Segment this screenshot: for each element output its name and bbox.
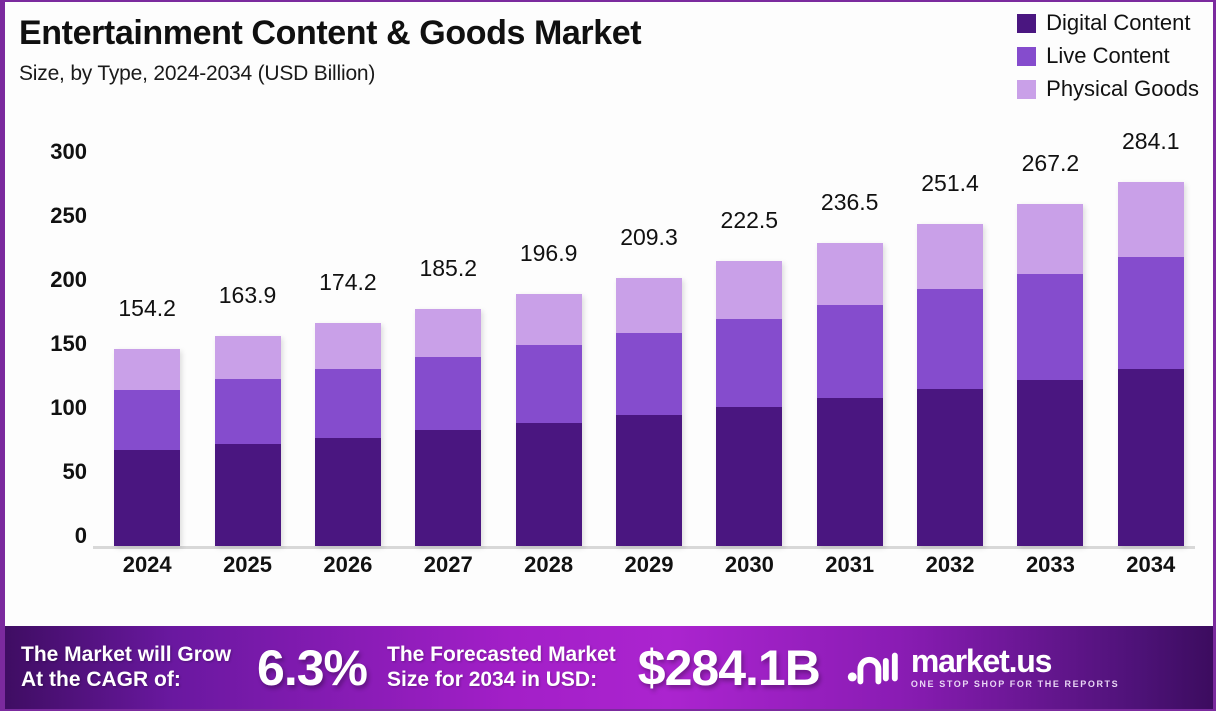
bar-segment[interactable] [1118,182,1184,256]
forecast-value: $284.1B [638,643,820,693]
stacked-bar[interactable] [1118,182,1184,546]
cagr-caption-line2: At the CAGR of: [21,668,231,693]
logo-tagline: ONE STOP SHOP FOR THE REPORTS [911,679,1119,689]
bar-column[interactable]: 236.5 [800,152,900,546]
x-axis-line [93,546,1195,549]
bar-segment[interactable] [716,407,782,546]
bar-value-label: 284.1 [1122,128,1180,155]
forecast-caption-line2: Size for 2034 in USD: [387,668,616,693]
bar-segment[interactable] [1017,380,1083,546]
bar-segment[interactable] [716,261,782,319]
x-axis-tick: 2026 [298,552,398,578]
header: Entertainment Content & Goods Market Siz… [19,14,641,86]
chart-plot-area: 300250200150100500 154.2163.9174.2185.21… [5,152,1213,607]
market-us-logo[interactable]: market.us ONE STOP SHOP FOR THE REPORTS [846,646,1119,689]
bar-value-label: 163.9 [219,282,277,309]
bar-value-label: 185.2 [419,255,477,282]
bar-segment[interactable] [616,333,682,416]
bar-segment[interactable] [817,243,883,304]
bar-column[interactable]: 222.5 [699,152,799,546]
bar-column[interactable]: 251.4 [900,152,1000,546]
bar-column[interactable]: 196.9 [498,152,598,546]
y-axis-tick: 50 [63,459,87,485]
x-axis: 2024202520262027202820292030203120322033… [97,552,1201,578]
x-axis-tick: 2034 [1101,552,1201,578]
market-us-logomark-icon [846,647,900,687]
bar-segment[interactable] [917,389,983,546]
bar-segment[interactable] [1118,369,1184,546]
bar-segment[interactable] [114,390,180,450]
legend-swatch-icon [1017,80,1036,99]
bar-segment[interactable] [1118,257,1184,370]
bar-segment[interactable] [616,415,682,546]
bar-column[interactable]: 163.9 [197,152,297,546]
cagr-caption: The Market will Grow At the CAGR of: [21,643,231,693]
bar-value-label: 209.3 [620,224,678,251]
bar-segment[interactable] [114,349,180,390]
bar-value-label: 174.2 [319,269,377,296]
chart-legend: Digital Content Live Content Physical Go… [1017,10,1199,102]
y-axis-tick: 250 [50,203,87,229]
logo-name: market.us [911,646,1119,676]
bar-segment[interactable] [1017,274,1083,380]
legend-item-live-content[interactable]: Live Content [1017,43,1170,69]
x-axis-tick: 2029 [599,552,699,578]
bar-segment[interactable] [415,430,481,546]
x-axis-tick: 2028 [498,552,598,578]
legend-swatch-icon [1017,14,1036,33]
stacked-bar[interactable] [315,323,381,546]
x-axis-tick: 2030 [699,552,799,578]
legend-swatch-icon [1017,47,1036,66]
bar-series-container: 154.2163.9174.2185.2196.9209.3222.5236.5… [97,152,1201,546]
stacked-bar[interactable] [616,278,682,546]
forecast-caption: The Forecasted Market Size for 2034 in U… [387,643,616,693]
x-axis-tick: 2033 [1000,552,1100,578]
bar-segment[interactable] [516,294,582,345]
stacked-bar[interactable] [415,309,481,546]
page-subtitle: Size, by Type, 2024-2034 (USD Billion) [19,62,641,86]
bar-segment[interactable] [215,444,281,546]
bar-value-label: 154.2 [118,295,176,322]
bar-segment[interactable] [315,438,381,546]
bar-value-label: 251.4 [921,170,979,197]
bar-segment[interactable] [315,369,381,438]
bar-segment[interactable] [616,278,682,333]
bar-value-label: 236.5 [821,189,879,216]
bar-column[interactable]: 284.1 [1101,152,1201,546]
stacked-bar[interactable] [817,243,883,546]
bar-column[interactable]: 267.2 [1000,152,1100,546]
stacked-bar[interactable] [917,224,983,546]
bar-segment[interactable] [215,379,281,444]
page-title: Entertainment Content & Goods Market [19,14,641,53]
bar-segment[interactable] [716,319,782,407]
legend-label: Physical Goods [1046,76,1199,102]
stacked-bar[interactable] [1017,204,1083,546]
x-axis-tick: 2025 [197,552,297,578]
bar-segment[interactable] [415,309,481,357]
y-axis: 300250200150100500 [25,152,87,552]
y-axis-tick: 200 [50,267,87,293]
bar-segment[interactable] [516,423,582,546]
bar-segment[interactable] [315,323,381,369]
legend-item-digital-content[interactable]: Digital Content [1017,10,1190,36]
legend-label: Live Content [1046,43,1170,69]
y-axis-tick: 150 [50,331,87,357]
legend-label: Digital Content [1046,10,1190,36]
bar-column[interactable]: 174.2 [298,152,398,546]
y-axis-tick: 0 [75,523,87,549]
cagr-caption-line1: The Market will Grow [21,643,231,668]
bar-segment[interactable] [817,398,883,546]
bar-segment[interactable] [917,289,983,389]
bar-segment[interactable] [1017,204,1083,274]
bar-segment[interactable] [917,224,983,289]
y-axis-tick: 100 [50,395,87,421]
bar-segment[interactable] [516,345,582,423]
bar-segment[interactable] [114,450,180,546]
bar-segment[interactable] [817,305,883,398]
x-axis-tick: 2024 [97,552,197,578]
infographic-frame: Entertainment Content & Goods Market Siz… [0,0,1216,711]
bar-value-label: 267.2 [1022,150,1080,177]
bar-segment[interactable] [215,336,281,379]
stacked-bar[interactable] [716,261,782,546]
legend-item-physical-goods[interactable]: Physical Goods [1017,76,1199,102]
x-axis-tick: 2031 [800,552,900,578]
x-axis-tick: 2027 [398,552,498,578]
stacked-bar[interactable] [516,294,582,546]
bar-value-label: 222.5 [721,207,779,234]
market-us-wordmark: market.us ONE STOP SHOP FOR THE REPORTS [911,646,1119,689]
stacked-bar[interactable] [215,336,281,546]
forecast-caption-line1: The Forecasted Market [387,643,616,668]
footer-banner: The Market will Grow At the CAGR of: 6.3… [5,626,1213,709]
cagr-value: 6.3% [257,643,367,693]
bar-column[interactable]: 209.3 [599,152,699,546]
bar-column[interactable]: 185.2 [398,152,498,546]
bar-column[interactable]: 154.2 [97,152,197,546]
y-axis-tick: 300 [50,139,87,165]
bar-value-label: 196.9 [520,240,578,267]
bar-segment[interactable] [415,357,481,430]
x-axis-tick: 2032 [900,552,1000,578]
stacked-bar[interactable] [114,349,180,546]
